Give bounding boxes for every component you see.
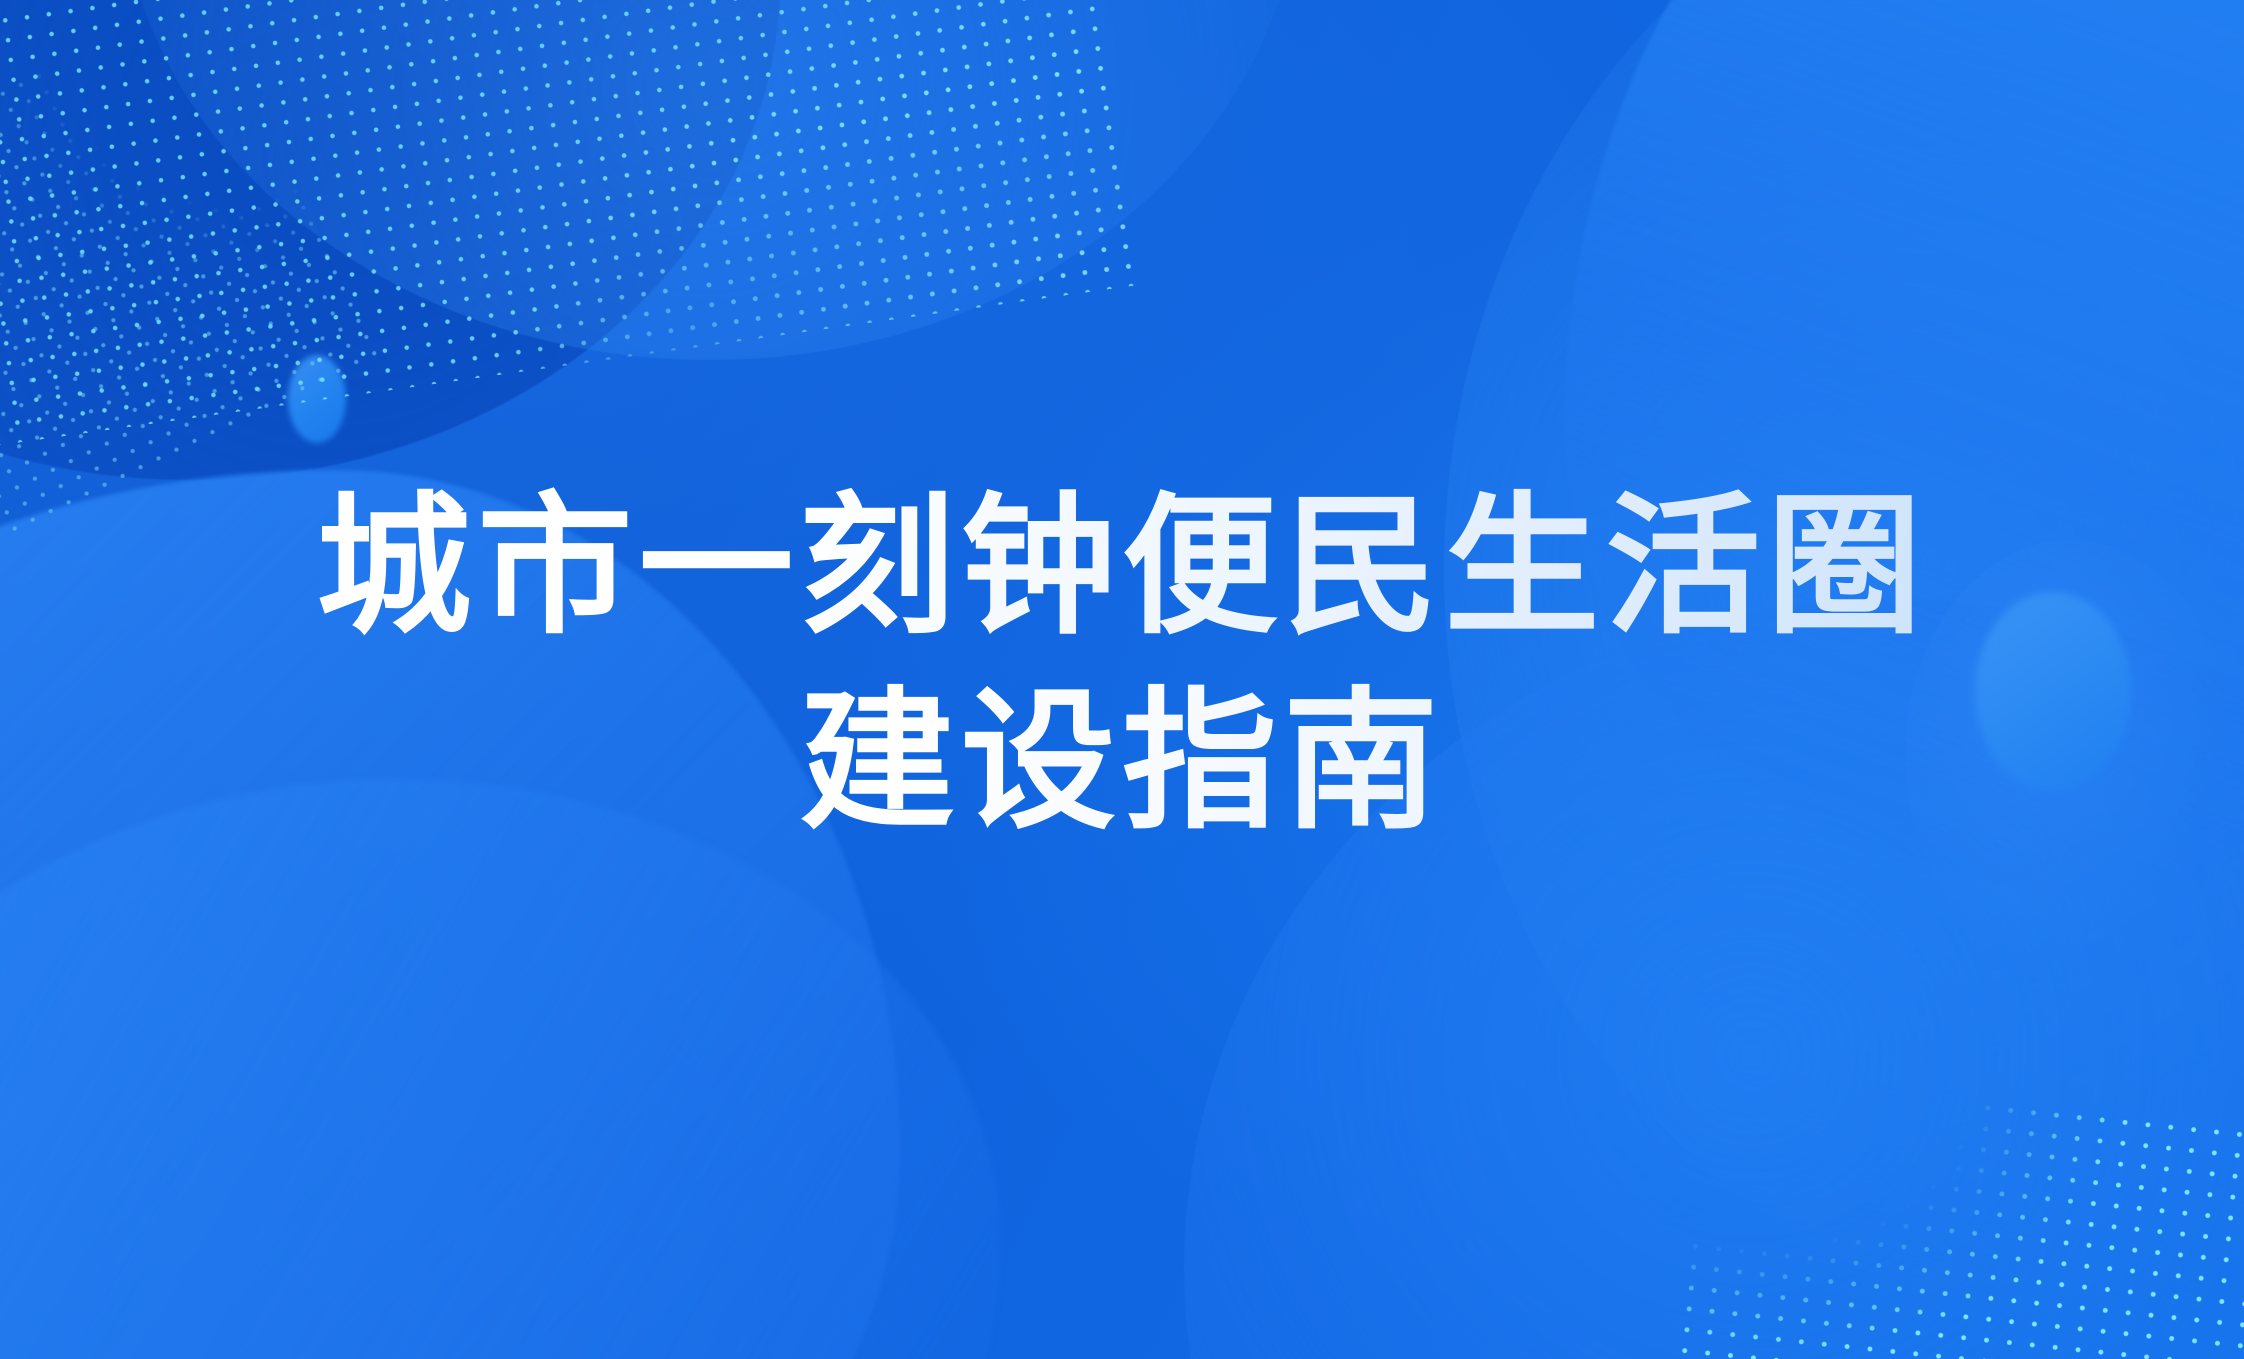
poster-banner: 城市一刻钟便民生活圈 建设指南 [0,0,2244,1359]
title-line-2: 建设指南 [0,665,2244,860]
title-line-1: 城市一刻钟便民生活圈 [0,470,2244,665]
page-title: 城市一刻钟便民生活圈 建设指南 [0,470,2244,859]
